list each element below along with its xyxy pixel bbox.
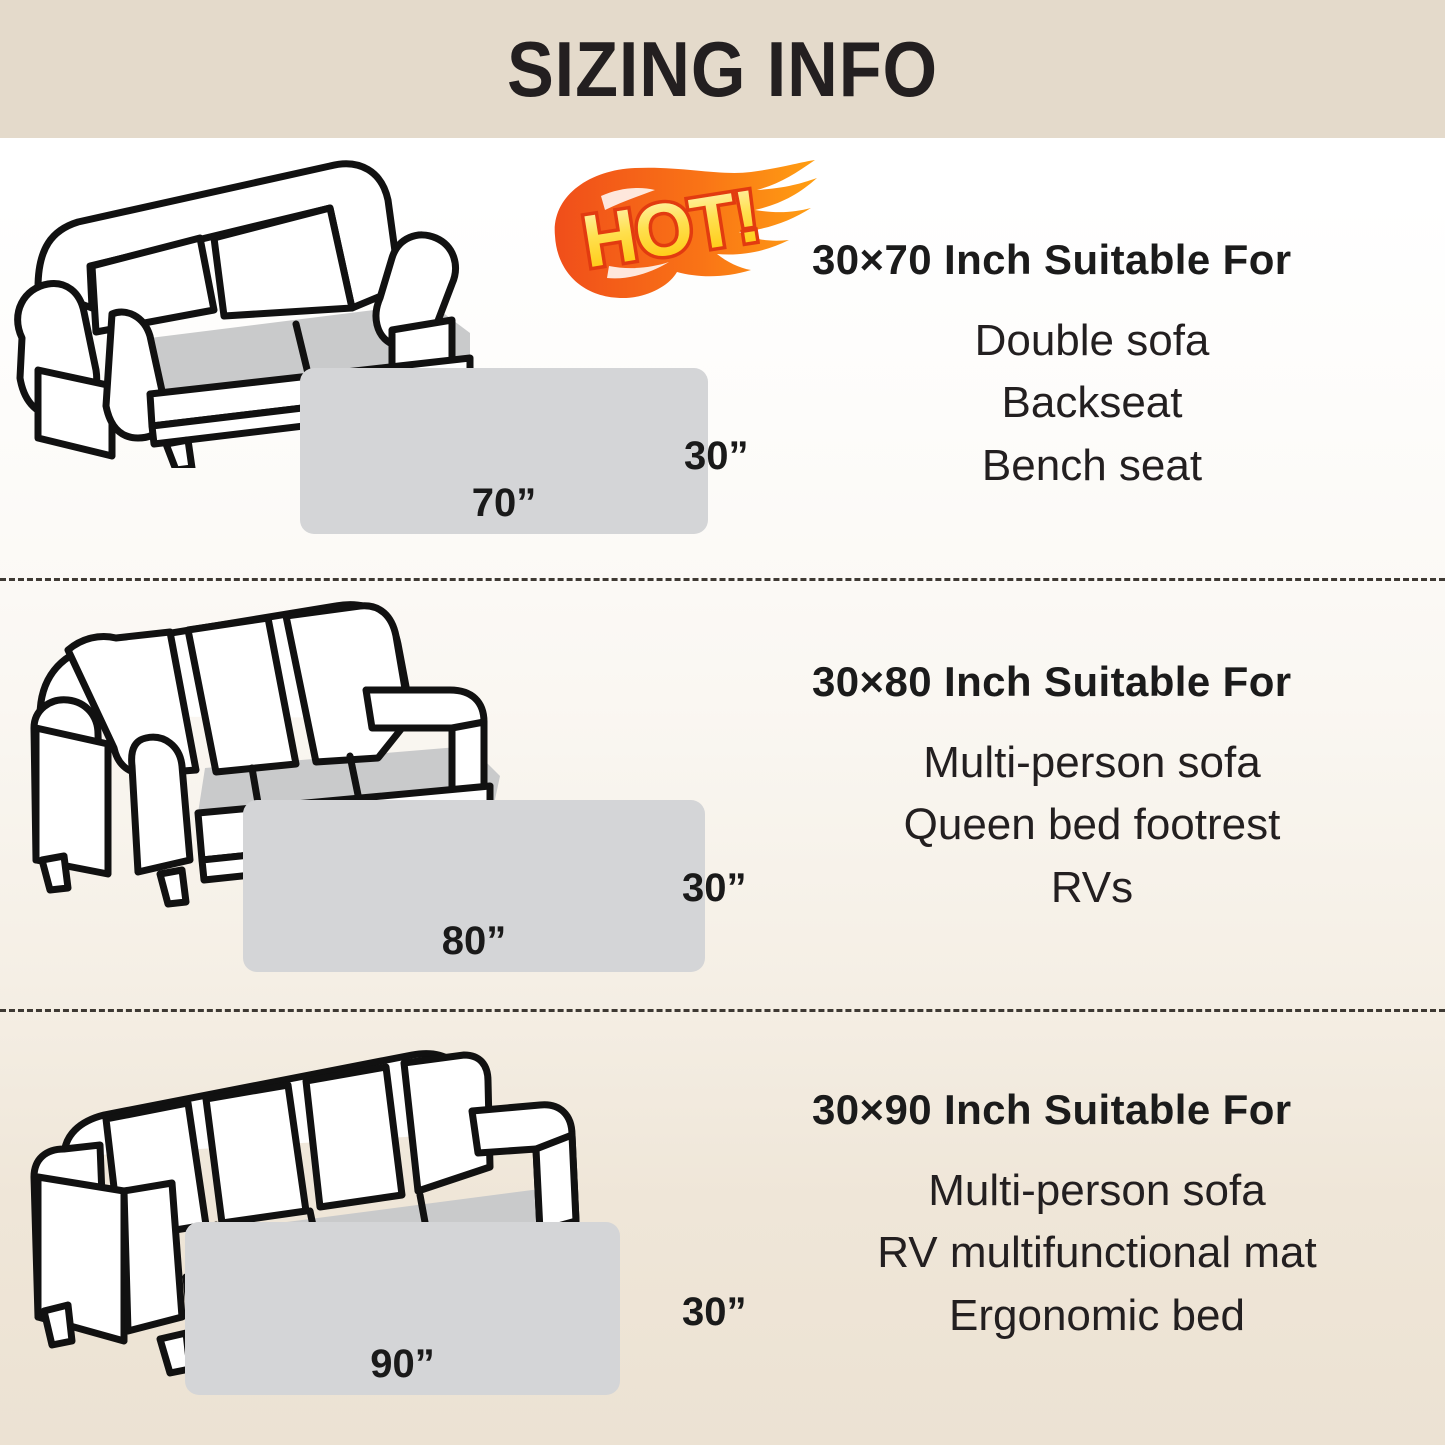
width-label-90: 90” (185, 1342, 620, 1387)
use-item: RV multifunctional mat (812, 1222, 1382, 1284)
section-heading-30x80: 30×80 Inch Suitable For (812, 658, 1372, 706)
height-label-30: 30” (682, 1290, 747, 1335)
size-section-30x70: HOT! 70” 30” 30×70 Inch Suitable For Dou… (0, 138, 1445, 578)
dimension-rect-30x80: 80” (243, 800, 705, 972)
width-label-70: 70” (300, 481, 708, 526)
use-item: RVs (812, 857, 1372, 919)
use-item: Backseat (812, 372, 1372, 434)
section-heading-30x70: 30×70 Inch Suitable For (812, 236, 1372, 284)
width-label-80: 80” (243, 919, 705, 964)
use-list-30x90: Multi-person sofa RV multifunctional mat… (812, 1160, 1382, 1347)
use-item: Double sofa (812, 310, 1372, 372)
dimension-rect-30x90: 90” (185, 1222, 620, 1395)
section-heading-30x90: 30×90 Inch Suitable For (812, 1086, 1382, 1134)
hot-badge: HOT! (543, 158, 819, 304)
use-list-30x70: Double sofa Backseat Bench seat (812, 310, 1372, 497)
height-label-30: 30” (682, 866, 747, 911)
dimension-rect-30x70: 70” (300, 368, 708, 534)
sizing-info-infographic: SIZING INFO (0, 0, 1445, 1445)
height-label-30: 30” (684, 434, 749, 479)
use-list-30x80: Multi-person sofa Queen bed footrest RVs (812, 732, 1372, 919)
header-banner: SIZING INFO (0, 0, 1445, 138)
use-item: Ergonomic bed (812, 1285, 1382, 1347)
page-title: SIZING INFO (507, 30, 938, 108)
use-item: Bench seat (812, 435, 1372, 497)
use-item: Queen bed footrest (812, 794, 1372, 856)
size-section-30x80: 80” 30” 30×80 Inch Suitable For Multi-pe… (0, 578, 1445, 1009)
use-item: Multi-person sofa (812, 1160, 1382, 1222)
size-section-30x90: 90” 30” 30×90 Inch Suitable For Multi-pe… (0, 1009, 1445, 1445)
use-item: Multi-person sofa (812, 732, 1372, 794)
